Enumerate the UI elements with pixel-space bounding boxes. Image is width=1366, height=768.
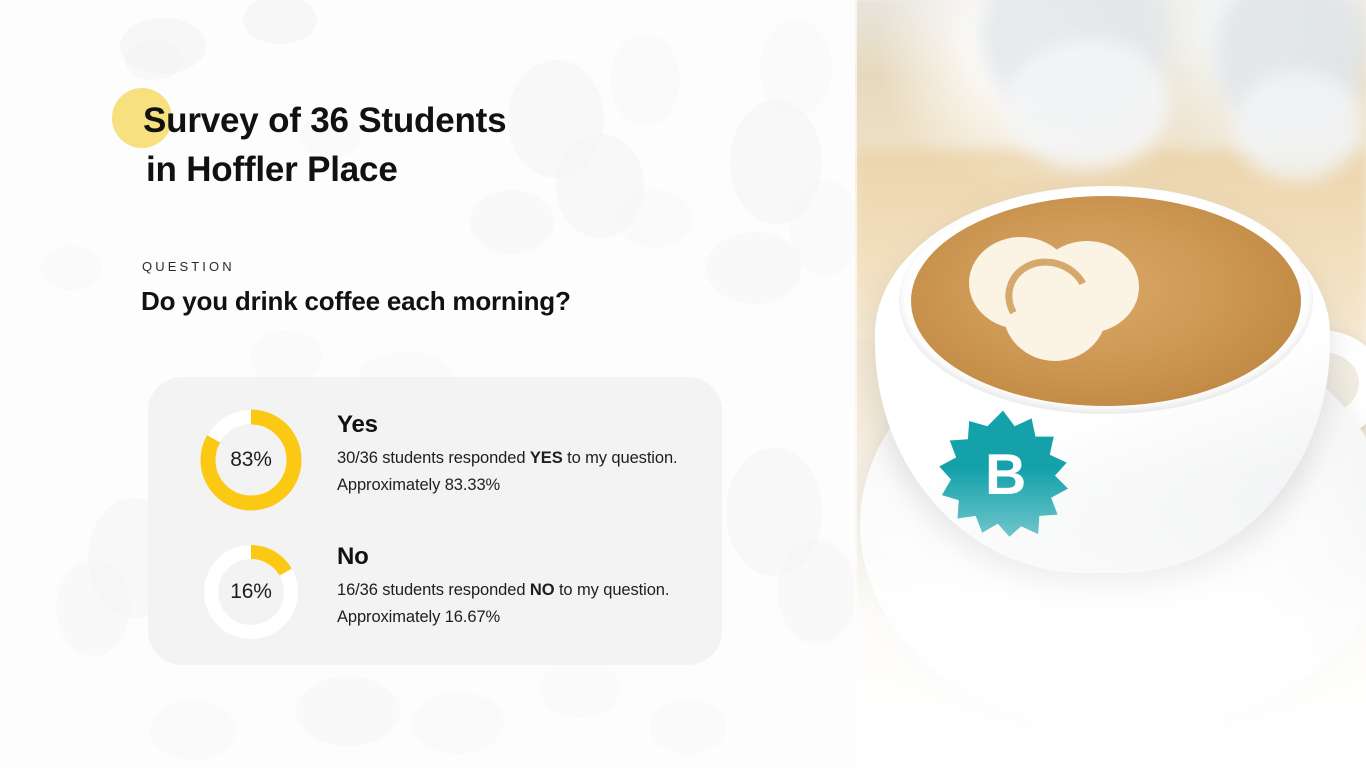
donut-chart-yes: 83%: [196, 405, 306, 515]
photo-bottom-fade: [855, 468, 1366, 768]
result-heading-yes: Yes: [337, 411, 697, 439]
result-text-no: No 16/36 students responded NO to my que…: [337, 543, 697, 631]
result-row: 83% Yes 30/36 students responded YES to …: [148, 405, 722, 525]
photo-left-edge: [855, 0, 857, 768]
background-glass-4: [1233, 70, 1363, 180]
page-title: Survey of 36 Studentsin Hoffler Place: [143, 96, 743, 194]
latte-art-heart: [963, 237, 1149, 363]
result-description-no: 16/36 students responded NO to my questi…: [337, 577, 697, 631]
result-heading-no: No: [337, 543, 697, 571]
page-title-line-2: in Hoffler Place: [143, 145, 743, 194]
result-text-yes: Yes 30/36 students responded YES to my q…: [337, 411, 697, 499]
page-title-line-1: Survey of 36 Students: [143, 101, 506, 140]
background-glass-2: [1005, 40, 1170, 170]
donut-value-no: 16%: [196, 537, 306, 647]
question-text: Do you drink coffee each morning?: [141, 286, 571, 317]
results-card: 83% Yes 30/36 students responded YES to …: [148, 377, 722, 665]
result-description-yes: 30/36 students responded YES to my quest…: [337, 445, 697, 499]
coffee-photo: B: [855, 0, 1366, 768]
left-content-panel: Survey of 36 Studentsin Hoffler Place QU…: [0, 0, 860, 768]
result-desc-emphasis-yes: YES: [530, 449, 563, 467]
donut-value-yes: 83%: [196, 405, 306, 515]
slide-root: Survey of 36 Studentsin Hoffler Place QU…: [0, 0, 1366, 768]
result-desc-emphasis-no: NO: [530, 581, 555, 599]
question-label: QUESTION: [142, 259, 235, 274]
result-desc-before-yes: 30/36 students responded: [337, 449, 530, 467]
result-row: 16% No 16/36 students responded NO to my…: [148, 531, 722, 651]
result-desc-before-no: 16/36 students responded: [337, 581, 530, 599]
donut-chart-no: 16%: [196, 537, 306, 647]
